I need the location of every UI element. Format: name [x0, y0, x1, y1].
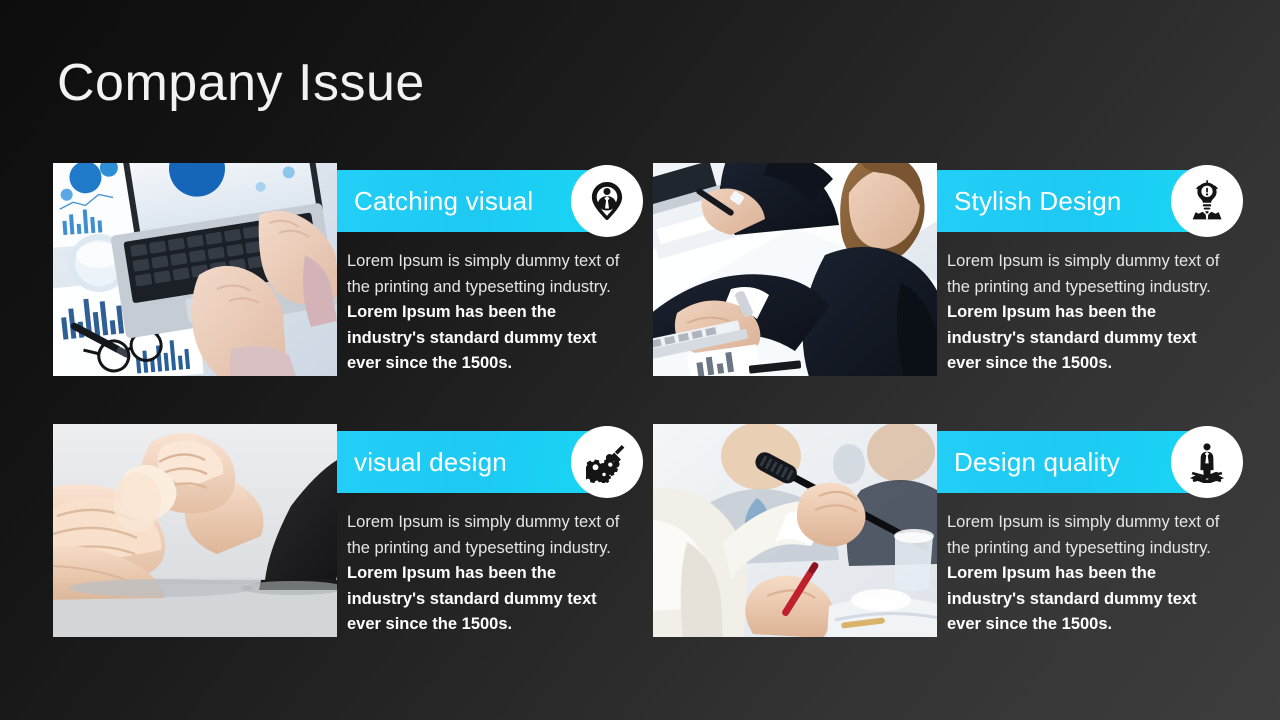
feature-card[interactable]: Design quality Lorem Ipsum is simply dum… — [653, 424, 1229, 674]
card-title: Stylish Design — [937, 188, 1122, 214]
card-body: Lorem Ipsum is simply dummy text of the … — [347, 249, 633, 377]
card-body-strong: Lorem Ipsum has been the industry's stan… — [947, 303, 1197, 372]
page-title: Company Issue — [57, 55, 425, 112]
card-title: Design quality — [937, 449, 1120, 475]
card-body: Lorem Ipsum is simply dummy text of the … — [947, 510, 1233, 638]
slide-canvas: Company Issue — [0, 0, 1280, 720]
arm-wrestling-hands-photo — [53, 424, 337, 637]
card-body-strong: Lorem Ipsum has been the industry's stan… — [347, 564, 597, 633]
card-title: Catching visual — [337, 188, 533, 214]
location-pin-person-icon — [571, 165, 643, 237]
laptop-charts-hands-typing-photo — [53, 163, 337, 376]
card-title: visual design — [337, 449, 507, 475]
card-body: Lorem Ipsum is simply dummy text of the … — [347, 510, 633, 638]
lightbulb-idea-person-icon — [1171, 165, 1243, 237]
conference-microphone-press-photo — [653, 424, 937, 637]
business-meeting-suits-laptops-photo — [653, 163, 937, 376]
feature-card[interactable]: Stylish Design — [653, 163, 1229, 413]
card-body-strong: Lorem Ipsum has been the industry's stan… — [947, 564, 1197, 633]
card-body-lead: Lorem Ipsum is simply dummy text of the … — [947, 513, 1219, 557]
card-body-strong: Lorem Ipsum has been the industry's stan… — [347, 303, 597, 372]
card-body-lead: Lorem Ipsum is simply dummy text of the … — [347, 513, 619, 557]
feature-card[interactable]: visual design — [53, 424, 629, 674]
wrench-gears-icon — [571, 426, 643, 498]
businessman-standing-icon — [1171, 426, 1243, 498]
feature-card[interactable]: Catching visual Lorem Ipsum is simply du… — [53, 163, 629, 413]
card-body-lead: Lorem Ipsum is simply dummy text of the … — [347, 252, 619, 296]
card-body: Lorem Ipsum is simply dummy text of the … — [947, 249, 1233, 377]
card-body-lead: Lorem Ipsum is simply dummy text of the … — [947, 252, 1219, 296]
